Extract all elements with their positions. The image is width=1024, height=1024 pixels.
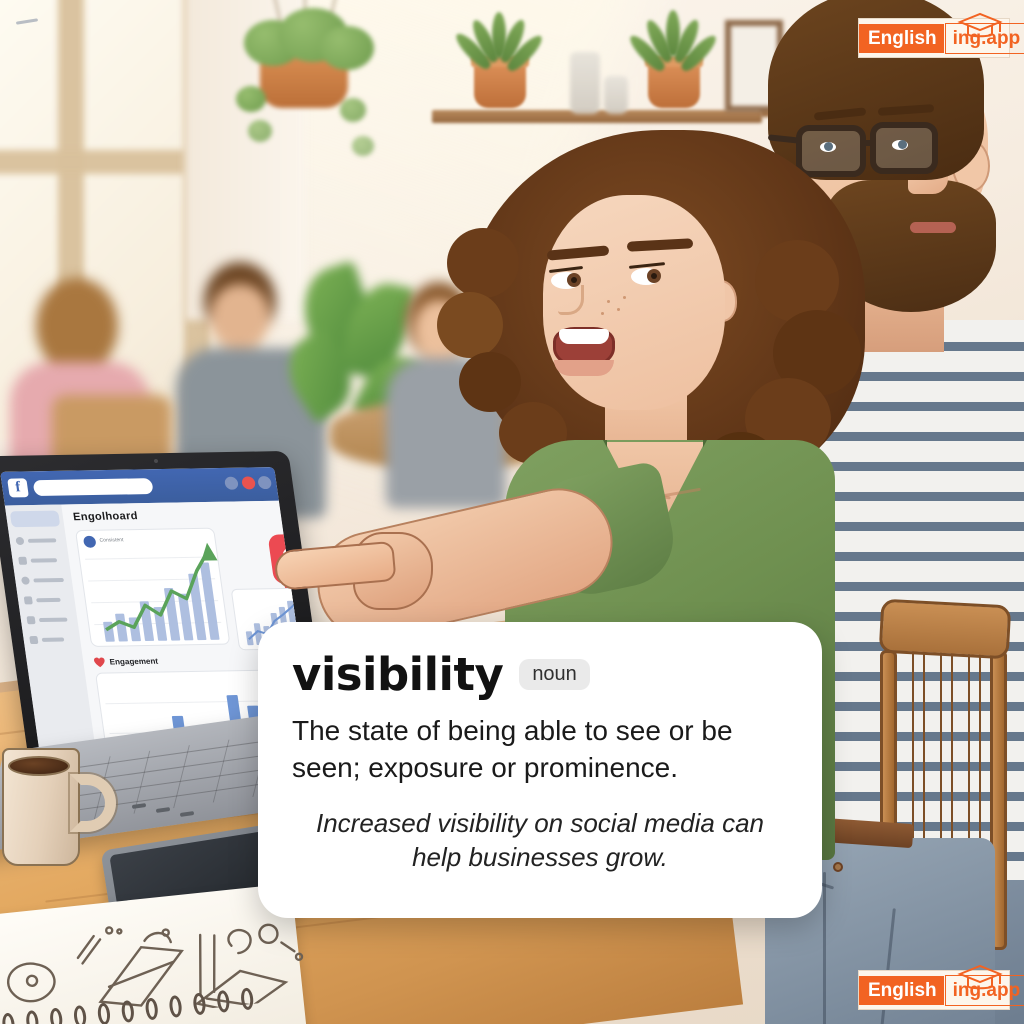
engagement-label: Engagement bbox=[109, 657, 159, 667]
shelf-jar bbox=[604, 76, 628, 114]
woman-teeth bbox=[559, 329, 609, 344]
illustration-scene: f Engolhoard Consistent bbox=[0, 0, 1024, 1024]
woman-pointing-hand bbox=[275, 522, 425, 614]
brand-logo-bottom[interactable]: English ing.app bbox=[858, 970, 1010, 1010]
dashboard-title: Engolhoard bbox=[72, 510, 138, 523]
example-sentence: Increased visibility on social media can… bbox=[292, 807, 788, 875]
brand-name-part1: English bbox=[859, 976, 944, 1005]
woman-pupil bbox=[571, 277, 577, 283]
hanging-plant bbox=[228, 0, 388, 220]
coffee-liquid bbox=[8, 756, 70, 776]
friends-icon[interactable] bbox=[224, 477, 239, 490]
woman-lower-lip bbox=[554, 360, 614, 376]
definition-card: visibility noun The state of being able … bbox=[258, 622, 822, 918]
engagement-header: Engagement bbox=[93, 656, 159, 668]
word-header-row: visibility noun bbox=[292, 648, 788, 701]
jeans-button bbox=[833, 862, 843, 872]
shelf-jar bbox=[570, 52, 600, 114]
growth-line-chart bbox=[76, 529, 231, 648]
search-input[interactable] bbox=[33, 478, 154, 496]
man-iris bbox=[898, 140, 907, 149]
heart-icon bbox=[93, 657, 107, 668]
notifications-icon[interactable] bbox=[241, 476, 256, 489]
chair-backrest bbox=[879, 599, 1012, 660]
man-mouth bbox=[910, 222, 956, 233]
word-title: visibility bbox=[292, 648, 503, 701]
woman-pupil bbox=[651, 273, 657, 279]
sidebar-item-active[interactable] bbox=[10, 511, 61, 528]
definition-text: The state of being able to see or be see… bbox=[292, 713, 788, 787]
facebook-logo-icon[interactable]: f bbox=[7, 478, 29, 497]
graduation-cap-icon bbox=[957, 11, 1003, 41]
part-of-speech-badge: noun bbox=[519, 659, 590, 690]
brand-logo-top[interactable]: English ing.app bbox=[858, 18, 1010, 58]
brand-name-part1: English bbox=[859, 24, 944, 53]
profile-icon[interactable] bbox=[257, 476, 272, 489]
graduation-cap-icon bbox=[957, 963, 1003, 993]
social-navbar: f bbox=[0, 467, 279, 505]
webcam-icon bbox=[154, 459, 159, 463]
main-chart-card: Consistent bbox=[75, 528, 230, 647]
